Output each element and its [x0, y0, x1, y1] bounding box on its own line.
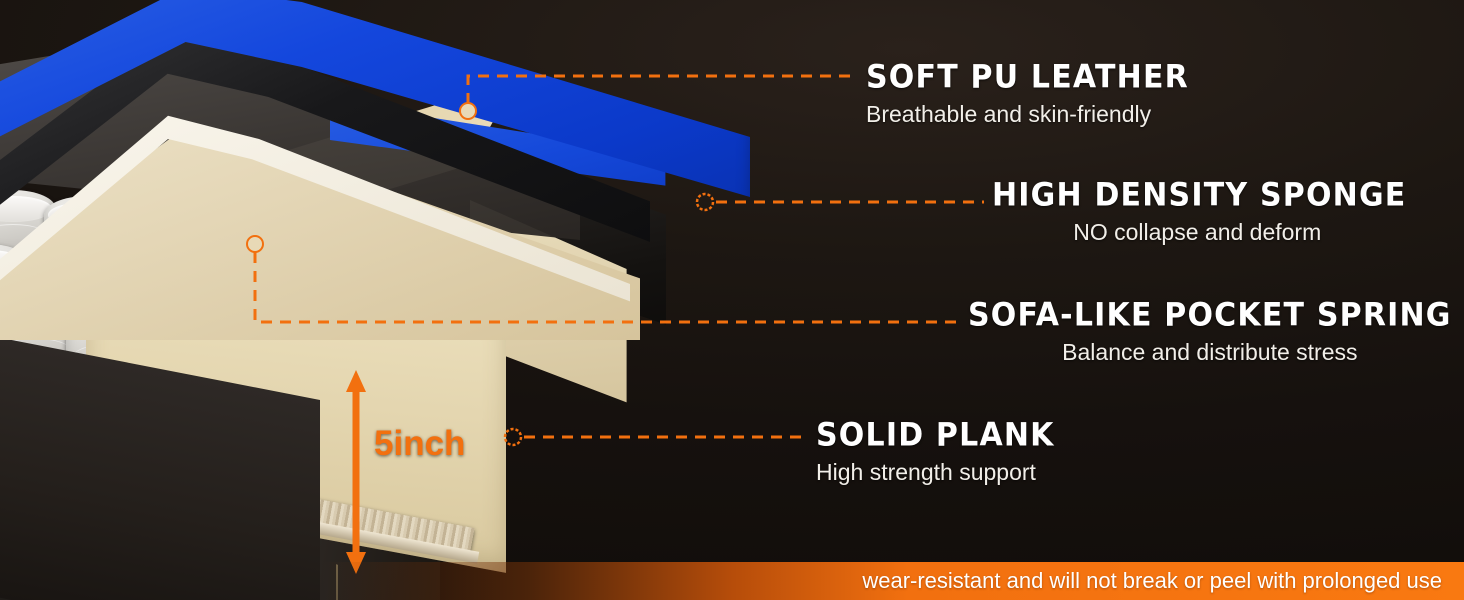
bottom-banner: wear-resistant and will not break or pee…: [0, 562, 1464, 600]
callout-subtext: Balance and distribute stress: [968, 339, 1452, 366]
callout-heading: SOLID PLANK: [816, 417, 1055, 454]
measurement-label: 5inch: [374, 424, 465, 464]
callout-high-density-sponge: HIGH DENSITY SPONGE NO collapse and defo…: [992, 178, 1406, 246]
callout-solid-plank: SOLID PLANK High strength support: [816, 418, 1055, 486]
callout-subtext: Breathable and skin-friendly: [866, 101, 1189, 128]
callout-heading: SOFA-LIKE POCKET SPRING: [968, 297, 1452, 334]
callout-subtext: NO collapse and deform: [988, 219, 1406, 246]
banner-text: wear-resistant and will not break or pee…: [862, 568, 1464, 594]
callout-subtext: High strength support: [816, 459, 1055, 486]
callout-sofa-like-pocket-spring: SOFA-LIKE POCKET SPRING Balance and dist…: [968, 298, 1452, 366]
callout-heading: HIGH DENSITY SPONGE: [992, 177, 1406, 214]
callout-heading: SOFT PU LEATHER: [866, 59, 1189, 96]
mattress-cutaway-photo: [0, 0, 760, 600]
product-infographic: SOFT PU LEATHER Breathable and skin-frie…: [0, 0, 1464, 600]
callout-soft-pu-leather: SOFT PU LEATHER Breathable and skin-frie…: [866, 60, 1189, 128]
